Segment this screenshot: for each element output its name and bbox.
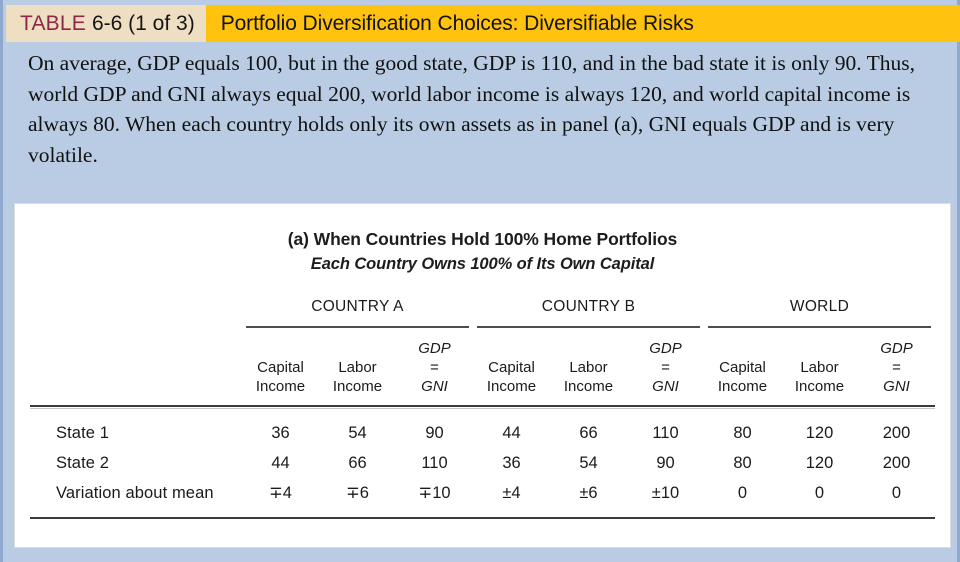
subheader-b-capital-line1: Capital [488, 359, 535, 376]
row-label: State 1 [30, 409, 242, 449]
subheader-a-gdp: GDP = GNI [396, 331, 473, 403]
subheader-b-labor-line2: Income [564, 378, 613, 395]
row-label: State 2 [30, 448, 242, 478]
cell-a-gdp: 110 [396, 448, 473, 478]
group-header-country-b: COUNTRY B [473, 292, 704, 322]
cell-w-capital: 80 [704, 448, 781, 478]
cell-w-gdp: 200 [858, 409, 935, 449]
subheader-a-capital-line1: Capital [257, 359, 304, 376]
title-bar: TABLE 6-6 (1 of 3) Portfolio Diversifica… [6, 5, 960, 42]
badge-table-number: 6-6 (1 of 3) [92, 12, 195, 36]
group-rule-row [30, 322, 935, 331]
cell-b-labor: 66 [550, 409, 627, 449]
subheader-w-capital: Capital Income [704, 331, 781, 403]
subheader-a-labor: Labor Income [319, 331, 396, 403]
table-row: State 2 44 66 110 36 54 90 80 120 200 [30, 448, 935, 478]
cell-a-gdp: ∓10 [396, 478, 473, 518]
subheader-b-capital-line2: Income [487, 378, 536, 395]
cell-b-capital: 36 [473, 448, 550, 478]
subheader-w-capital-line2: Income [718, 378, 767, 395]
group-rule-country-b [473, 322, 704, 331]
cell-w-capital: 80 [704, 409, 781, 449]
cell-w-gdp: 200 [858, 448, 935, 478]
group-rule-country-a [242, 322, 473, 331]
group-header-spacer [30, 292, 242, 322]
cell-w-labor: 120 [781, 448, 858, 478]
subheader-b-labor: Labor Income [550, 331, 627, 403]
panel-subtitle: Each Country Owns 100% of Its Own Capita… [15, 255, 950, 274]
badge-table-word: TABLE [20, 12, 86, 36]
subheader-a-capital: Capital Income [242, 331, 319, 403]
cell-b-gdp: 110 [627, 409, 704, 449]
cell-a-labor: ∓6 [319, 478, 396, 518]
subheader-w-labor-line1: Labor [800, 359, 838, 376]
cell-w-gdp: 0 [858, 478, 935, 518]
cell-b-gdp: ±10 [627, 478, 704, 518]
table-row: State 1 36 54 90 44 66 110 80 120 200 [30, 409, 935, 449]
subheader-row: Capital Income Labor Income GDP = GNI Ca… [30, 331, 935, 403]
cell-a-capital: 36 [242, 409, 319, 449]
subheader-a-capital-line2: Income [256, 378, 305, 395]
subheader-w-gdp: GDP = GNI [858, 331, 935, 403]
subheader-b-gdp-line2: = [627, 358, 704, 377]
group-header-row: COUNTRY A COUNTRY B WORLD [30, 292, 935, 322]
footer-rule [30, 518, 935, 521]
subheader-w-labor-line2: Income [795, 378, 844, 395]
table-panel: (a) When Countries Hold 100% Home Portfo… [14, 203, 951, 548]
cell-w-capital: 0 [704, 478, 781, 518]
row-label: Variation about mean [30, 478, 242, 518]
group-header-country-a: COUNTRY A [242, 292, 473, 322]
subheader-w-gdp-line1: GDP [858, 339, 935, 358]
group-rule-spacer [30, 322, 242, 331]
cell-a-capital: 44 [242, 448, 319, 478]
group-header-world: WORLD [704, 292, 935, 322]
subheader-w-labor: Labor Income [781, 331, 858, 403]
data-table: COUNTRY A COUNTRY B WORLD Capital Income [30, 292, 935, 521]
subheader-b-gdp: GDP = GNI [627, 331, 704, 403]
subheader-a-labor-line1: Labor [338, 359, 376, 376]
cell-b-capital: 44 [473, 409, 550, 449]
cell-a-labor: 66 [319, 448, 396, 478]
subheader-b-gdp-line1: GDP [627, 339, 704, 358]
subheader-a-labor-line2: Income [333, 378, 382, 395]
cell-a-gdp: 90 [396, 409, 473, 449]
cell-b-gdp: 90 [627, 448, 704, 478]
cell-a-labor: 54 [319, 409, 396, 449]
group-rule-world [704, 322, 935, 331]
subheader-b-labor-line1: Labor [569, 359, 607, 376]
subheader-w-capital-line1: Capital [719, 359, 766, 376]
subheader-spacer [30, 331, 242, 403]
table-number-badge: TABLE 6-6 (1 of 3) [6, 5, 206, 42]
cell-w-labor: 0 [781, 478, 858, 518]
subheader-w-gdp-line3: GNI [858, 377, 935, 396]
cell-b-labor: ±6 [550, 478, 627, 518]
subheader-a-gdp-line3: GNI [396, 377, 473, 396]
page-title: Portfolio Diversification Choices: Diver… [206, 5, 960, 42]
subheader-b-gdp-line3: GNI [627, 377, 704, 396]
subheader-a-gdp-line1: GDP [396, 339, 473, 358]
cell-w-labor: 120 [781, 409, 858, 449]
panel-title: (a) When Countries Hold 100% Home Portfo… [15, 229, 950, 250]
subheader-b-capital: Capital Income [473, 331, 550, 403]
caption-text: On average, GDP equals 100, but in the g… [28, 48, 940, 170]
cell-a-capital: ∓4 [242, 478, 319, 518]
subheader-a-gdp-line2: = [396, 358, 473, 377]
table-figure-page: TABLE 6-6 (1 of 3) Portfolio Diversifica… [0, 0, 960, 562]
cell-b-capital: ±4 [473, 478, 550, 518]
cell-b-labor: 54 [550, 448, 627, 478]
subheader-w-gdp-line2: = [858, 358, 935, 377]
table-row: Variation about mean ∓4 ∓6 ∓10 ±4 ±6 ±10… [30, 478, 935, 518]
